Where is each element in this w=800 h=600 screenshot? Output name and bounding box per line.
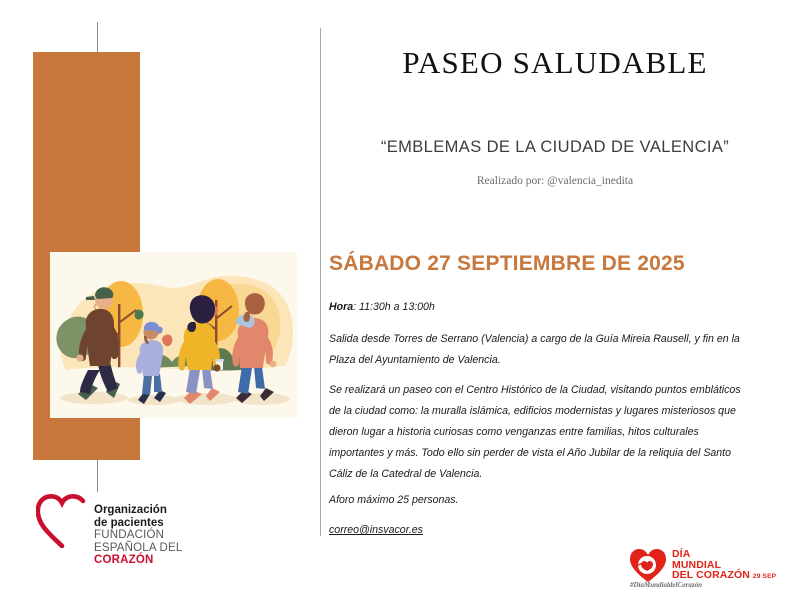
- center-vertical-divider: [320, 28, 321, 536]
- fec-logo-text: Organización de pacientes FUNDACIÓN ESPA…: [94, 504, 182, 567]
- people-walking-autumn-illustration: [50, 252, 297, 418]
- heart-pulse-icon: [628, 548, 668, 584]
- fec-line-3: FUNDACIÓN: [94, 529, 182, 542]
- hora-label: Hora: [329, 301, 353, 313]
- orange-accent-block-top: [33, 52, 140, 252]
- hora-line: Hora: 11:30h a 13:00h: [329, 297, 754, 318]
- poster-canvas: PASEO SALUDABLE “EMBLEMAS DE LA CIUDAD D…: [0, 0, 800, 600]
- credit-line: Realizado por: @valencia_inedita: [329, 175, 781, 187]
- inscriptions-line: correo@insvacor.es: [329, 520, 759, 541]
- email-link[interactable]: correo@insvacor.es: [329, 524, 423, 536]
- whd-hashtag: #DíaMundialdelCorazón: [630, 581, 702, 589]
- dia-mundial-del-corazon-logo: DÍA MUNDIAL DEL CORAZÓN29 SEP #DíaMundia…: [628, 548, 788, 592]
- event-date: SÁBADO 27 SEPTIEMBRE DE 2025: [329, 252, 781, 276]
- fundacion-espanola-del-corazon-logo: Organización de pacientes FUNDACIÓN ESPA…: [36, 492, 216, 570]
- page-title: PASEO SALUDABLE: [329, 45, 781, 81]
- paragraph-route-description: Se realizará un paseo con el Centro Hist…: [329, 380, 754, 485]
- whd-line-3-text: DEL CORAZÓN: [672, 569, 750, 581]
- whd-line-1: DÍA: [672, 549, 776, 560]
- open-heart-icon: [36, 492, 90, 548]
- content-column: PASEO SALUDABLE “EMBLEMAS DE LA CIUDAD D…: [329, 0, 781, 600]
- capacity-line: Aforo máximo 25 personas.: [329, 490, 759, 511]
- registration-details: Aforo máximo 25 personas. correo@insvaco…: [329, 490, 759, 550]
- whd-logo-text: DÍA MUNDIAL DEL CORAZÓN29 SEP: [672, 549, 776, 583]
- fec-line-1: Organización: [94, 504, 182, 517]
- fec-line-4: ESPAÑOLA DEL: [94, 542, 182, 555]
- paragraph-meeting-point: Salida desde Torres de Serrano (Valencia…: [329, 329, 754, 371]
- fec-line-2: de pacientes: [94, 517, 182, 530]
- whd-date-badge: 29 SEP: [753, 573, 776, 580]
- hora-value: : 11:30h a 13:00h: [353, 301, 435, 313]
- fec-line-5: CORAZÓN: [94, 554, 182, 567]
- event-details: Hora: 11:30h a 13:00h Salida desde Torre…: [329, 297, 754, 494]
- subtitle: “EMBLEMAS DE LA CIUDAD DE VALENCIA”: [329, 138, 781, 157]
